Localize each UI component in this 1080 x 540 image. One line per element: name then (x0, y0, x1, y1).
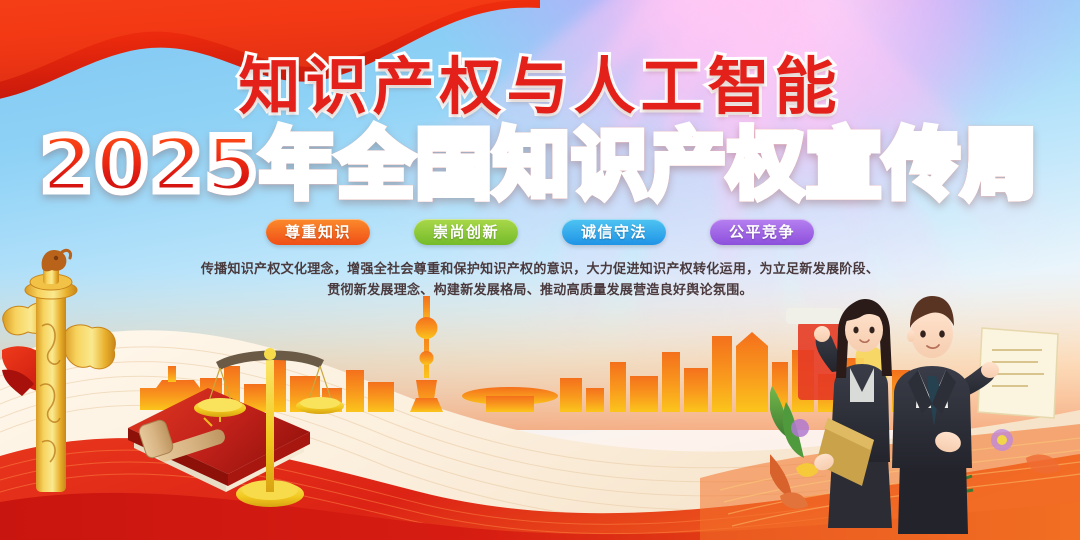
badge-advocate-innovation[interactable]: 崇尚创新 (414, 219, 518, 245)
poster-text-block: 知识产权与人工智能 2025年全国知识产权宣传周 尊重知识 崇尚创新 诚信守法 … (0, 0, 1080, 301)
badge-integrity-law[interactable]: 诚信守法 (562, 219, 666, 245)
page-title-line2: 2025年全国知识产权宣传周 (0, 125, 1080, 204)
description-line-1: 传播知识产权文化理念，增强全社会尊重和保护知识产权的意识，大力促进知识产权转化运… (0, 259, 1080, 280)
badge-fair-competition[interactable]: 公平竞争 (710, 219, 814, 245)
ip-week-poster: 知识产权与人工智能 2025年全国知识产权宣传周 尊重知识 崇尚创新 诚信守法 … (0, 0, 1080, 540)
description-text: 传播知识产权文化理念，增强全社会尊重和保护知识产权的意识，大力促进知识产权转化运… (0, 259, 1080, 301)
foliage-plants-icon (770, 386, 818, 509)
law-book-gavel-scales (120, 318, 350, 518)
slogan-badge-group: 尊重知识 崇尚创新 诚信守法 公平竞争 (0, 219, 1080, 245)
description-line-2: 贯彻新发展理念、构建新发展格局、推动高质量发展营造良好舆论氛围。 (0, 280, 1080, 301)
businesswoman-figure (812, 299, 892, 528)
page-title-line1: 知识产权与人工智能 (0, 55, 1080, 119)
business-people-illustration (770, 290, 1080, 540)
badge-respect-knowledge[interactable]: 尊重知识 (266, 219, 370, 245)
